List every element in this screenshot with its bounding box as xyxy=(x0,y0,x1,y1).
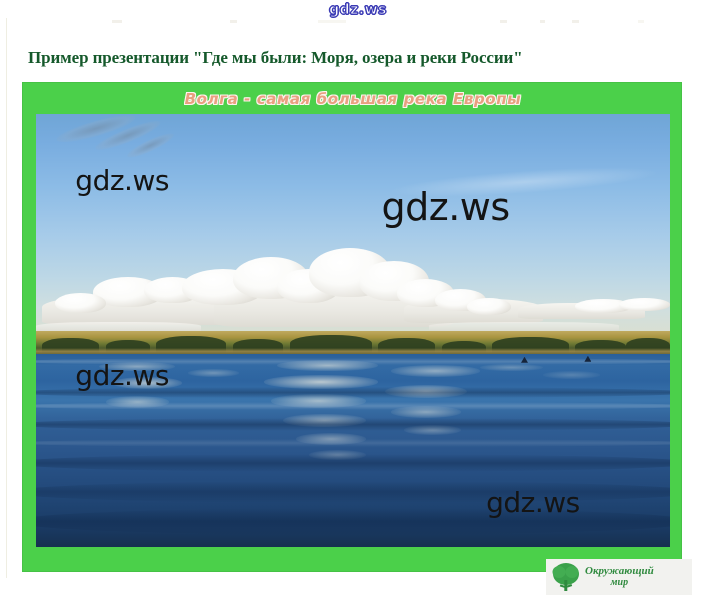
photo-watermark-center: gdz.ws xyxy=(382,185,510,229)
slide-header-bar: Волга - самая большая река Европы xyxy=(23,83,683,114)
site-logo: Окружающий мир xyxy=(546,559,692,595)
top-watermark: gdz.ws xyxy=(0,2,716,18)
page-title: Пример презентации "Где мы были: Моря, о… xyxy=(28,48,523,68)
slide-title: Волга - самая большая река Европы xyxy=(185,90,522,108)
photo-watermark-upper-left: gdz.ws xyxy=(75,164,169,197)
slide-photo-volga-river: gdz.ws gdz.ws gdz.ws gdz.ws xyxy=(36,114,670,547)
photo-cumulus-cloudbank xyxy=(36,232,670,333)
site-logo-line2: мир xyxy=(585,577,654,588)
tree-icon xyxy=(552,562,580,592)
photo-sky xyxy=(36,114,670,333)
photo-watermark-lower-left: gdz.ws xyxy=(75,359,169,392)
photo-watermark-lower-right: gdz.ws xyxy=(486,486,580,519)
presentation-slide: Волга - самая большая река Европы xyxy=(22,82,682,572)
site-logo-text: Окружающий мир xyxy=(585,566,654,588)
page-left-rule xyxy=(6,18,7,578)
photo-shoreline xyxy=(36,331,670,354)
page-top-artifacts xyxy=(0,20,716,32)
site-logo-line1: Окружающий xyxy=(585,565,654,577)
